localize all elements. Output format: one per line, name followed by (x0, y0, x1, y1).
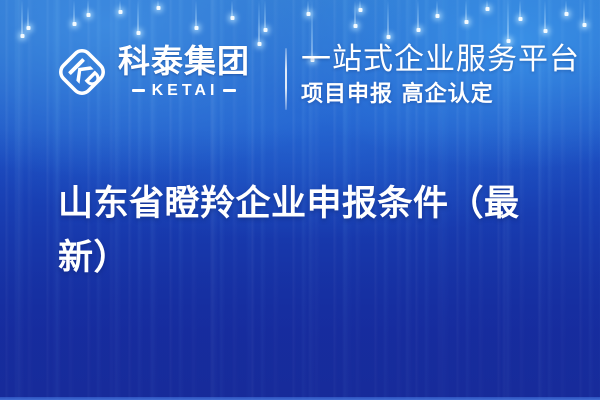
logo-wordmark: 科泰集团 KETAI (118, 45, 250, 99)
promo-banner: 科泰集团 KETAI 一站式企业服务平台 项目申报 高企认定 山东省瞪羚企业申报… (0, 0, 600, 400)
logo-company-en-row: KETAI (132, 83, 237, 99)
page-title: 山东省瞪羚企业申报条件（最新） (58, 178, 563, 284)
ketai-kd-monogram-icon (55, 45, 109, 99)
ketai-logo[interactable]: 科泰集团 KETAI (55, 45, 250, 99)
slogan-block: 一站式企业服务平台 项目申报 高企认定 (301, 44, 580, 106)
slogan-primary: 一站式企业服务平台 (301, 44, 580, 76)
logo-dash-right-icon (223, 89, 236, 92)
logo-company-cn: 科泰集团 (118, 45, 250, 79)
header-divider (285, 48, 287, 110)
logo-company-en: KETAI (150, 83, 219, 99)
slogan-secondary: 项目申报 高企认定 (301, 82, 580, 106)
logo-dash-left-icon (132, 89, 145, 92)
banner-header: 科泰集团 KETAI 一站式企业服务平台 项目申报 高企认定 (0, 40, 600, 118)
